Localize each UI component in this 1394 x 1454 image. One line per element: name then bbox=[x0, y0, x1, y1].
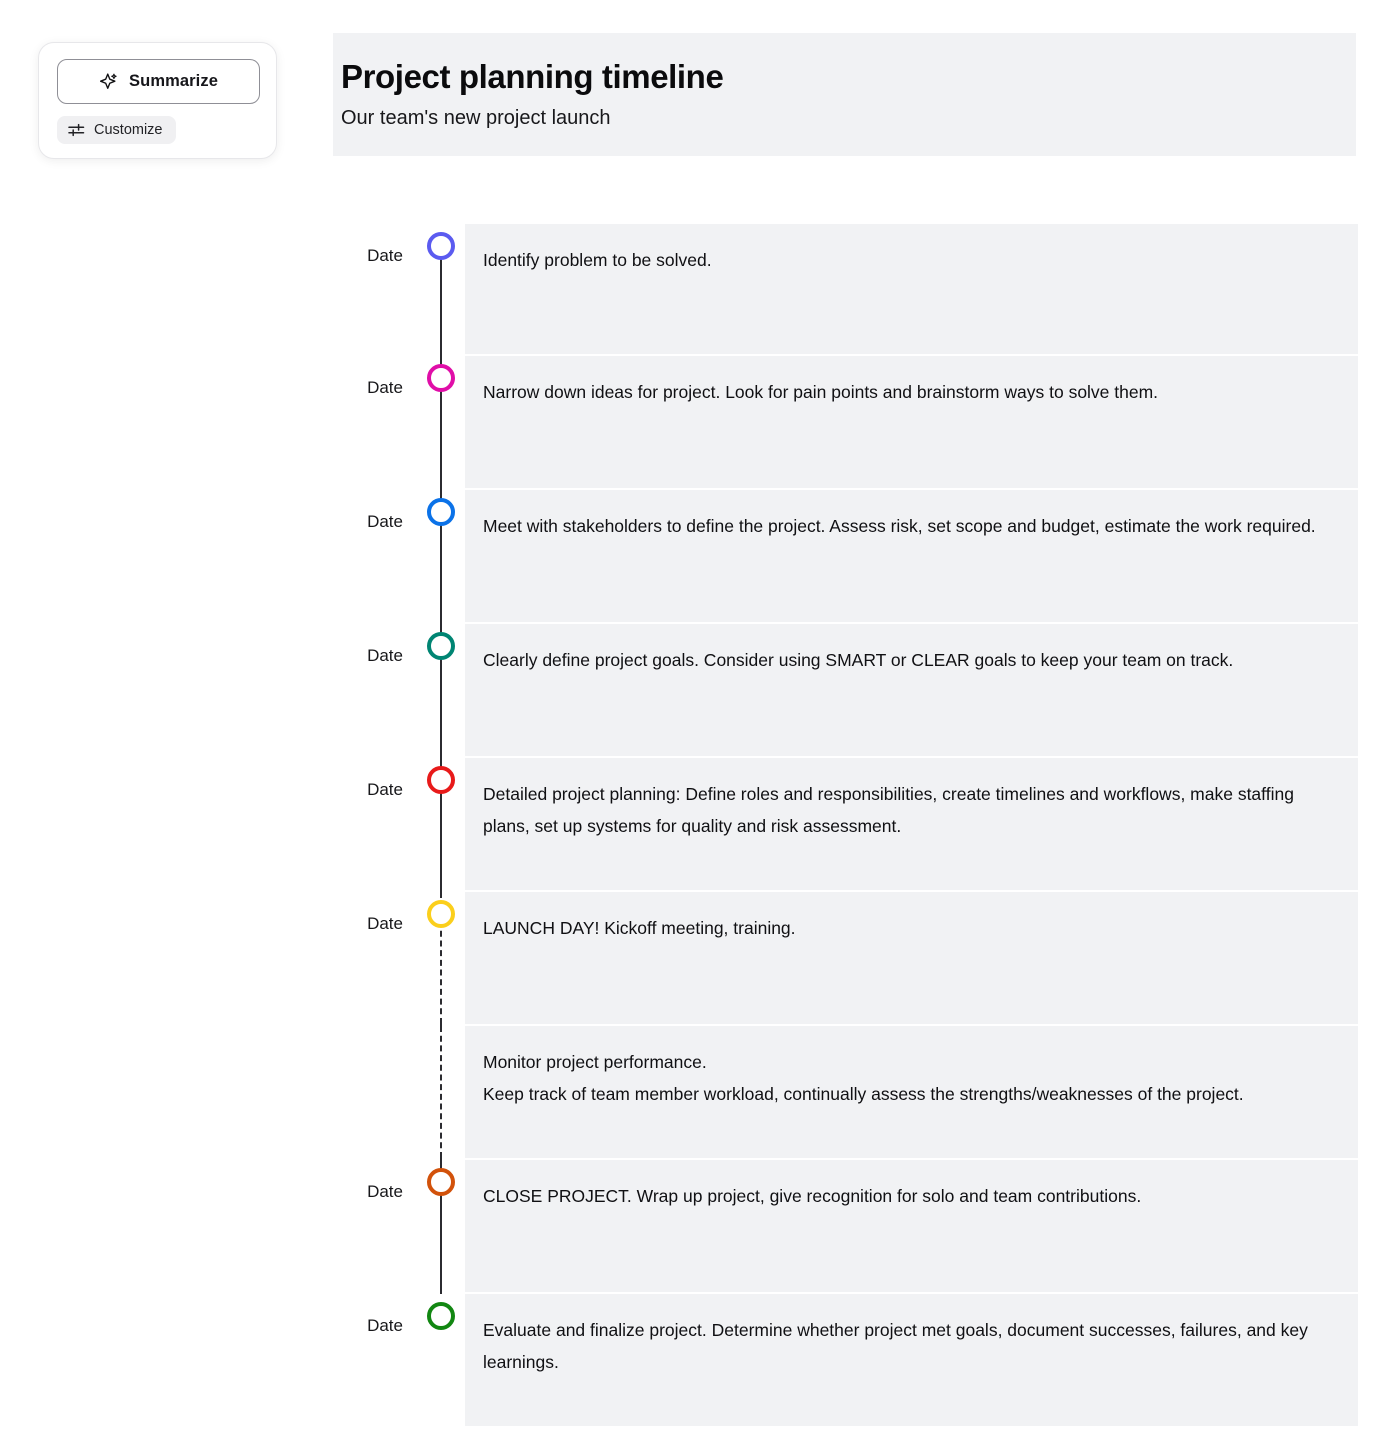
timeline-row: DateDetailed project planning: Define ro… bbox=[333, 758, 1358, 890]
timeline-rail bbox=[417, 624, 465, 756]
timeline-marker[interactable] bbox=[427, 766, 455, 794]
timeline-row-date: Date bbox=[333, 490, 417, 532]
timeline-rail bbox=[417, 1294, 465, 1426]
summarize-button-label: Summarize bbox=[129, 72, 218, 91]
timeline-rail bbox=[417, 1160, 465, 1292]
timeline-row-date bbox=[333, 1026, 417, 1048]
timeline-row-date: Date bbox=[333, 1294, 417, 1336]
ai-toolbar-panel: Summarize Customize bbox=[38, 42, 277, 159]
timeline-connector-line bbox=[440, 1026, 442, 1158]
timeline-marker[interactable] bbox=[427, 232, 455, 260]
timeline-rail bbox=[417, 892, 465, 1024]
timeline-row-date: Date bbox=[333, 892, 417, 934]
timeline-event-card[interactable]: Clearly define project goals. Consider u… bbox=[465, 624, 1358, 756]
timeline-row-date: Date bbox=[333, 1160, 417, 1202]
timeline-event-card[interactable]: Monitor project performance. Keep track … bbox=[465, 1026, 1358, 1158]
timeline-marker[interactable] bbox=[427, 498, 455, 526]
page-subtitle: Our team's new project launch bbox=[341, 105, 1356, 131]
timeline-row: DateMeet with stakeholders to define the… bbox=[333, 490, 1358, 622]
timeline-rail bbox=[417, 224, 465, 354]
timeline-row: DateNarrow down ideas for project. Look … bbox=[333, 356, 1358, 488]
timeline-event-card[interactable]: Narrow down ideas for project. Look for … bbox=[465, 356, 1358, 488]
timeline-rail bbox=[417, 1026, 465, 1158]
timeline-event-card[interactable]: Identify problem to be solved. bbox=[465, 224, 1358, 354]
timeline-connector-line bbox=[440, 246, 442, 354]
customize-button[interactable]: Customize bbox=[57, 116, 176, 144]
timeline-event-card[interactable]: LAUNCH DAY! Kickoff meeting, training. bbox=[465, 892, 1358, 1024]
timeline-marker[interactable] bbox=[427, 1302, 455, 1330]
customize-button-label: Customize bbox=[94, 122, 163, 138]
timeline-marker[interactable] bbox=[427, 364, 455, 392]
page-title: Project planning timeline bbox=[341, 57, 1356, 97]
timeline-marker[interactable] bbox=[427, 1168, 455, 1196]
timeline-event-card[interactable]: Evaluate and finalize project. Determine… bbox=[465, 1294, 1358, 1426]
timeline-rail bbox=[417, 490, 465, 622]
document-header: Project planning timeline Our team's new… bbox=[333, 33, 1356, 156]
timeline-list: DateIdentify problem to be solved.DateNa… bbox=[333, 224, 1358, 1426]
timeline-row: DateEvaluate and finalize project. Deter… bbox=[333, 1294, 1358, 1426]
timeline-row: DateClearly define project goals. Consid… bbox=[333, 624, 1358, 756]
timeline-event-card[interactable]: Detailed project planning: Define roles … bbox=[465, 758, 1358, 890]
timeline-row: Monitor project performance. Keep track … bbox=[333, 1026, 1358, 1158]
timeline-row-date: Date bbox=[333, 758, 417, 800]
timeline-row: DateLAUNCH DAY! Kickoff meeting, trainin… bbox=[333, 892, 1358, 1024]
sliders-icon bbox=[68, 123, 85, 137]
timeline-rail bbox=[417, 758, 465, 890]
timeline-row-date: Date bbox=[333, 356, 417, 398]
timeline-event-card[interactable]: Meet with stakeholders to define the pro… bbox=[465, 490, 1358, 622]
timeline-row-date: Date bbox=[333, 624, 417, 666]
timeline-row: DateCLOSE PROJECT. Wrap up project, give… bbox=[333, 1160, 1358, 1292]
summarize-button[interactable]: Summarize bbox=[57, 59, 260, 104]
timeline-row-date: Date bbox=[333, 224, 417, 266]
timeline-row: DateIdentify problem to be solved. bbox=[333, 224, 1358, 354]
timeline-rail bbox=[417, 356, 465, 488]
sparkle-icon bbox=[99, 72, 119, 92]
timeline-event-card[interactable]: CLOSE PROJECT. Wrap up project, give rec… bbox=[465, 1160, 1358, 1292]
timeline-marker[interactable] bbox=[427, 632, 455, 660]
timeline-marker[interactable] bbox=[427, 900, 455, 928]
